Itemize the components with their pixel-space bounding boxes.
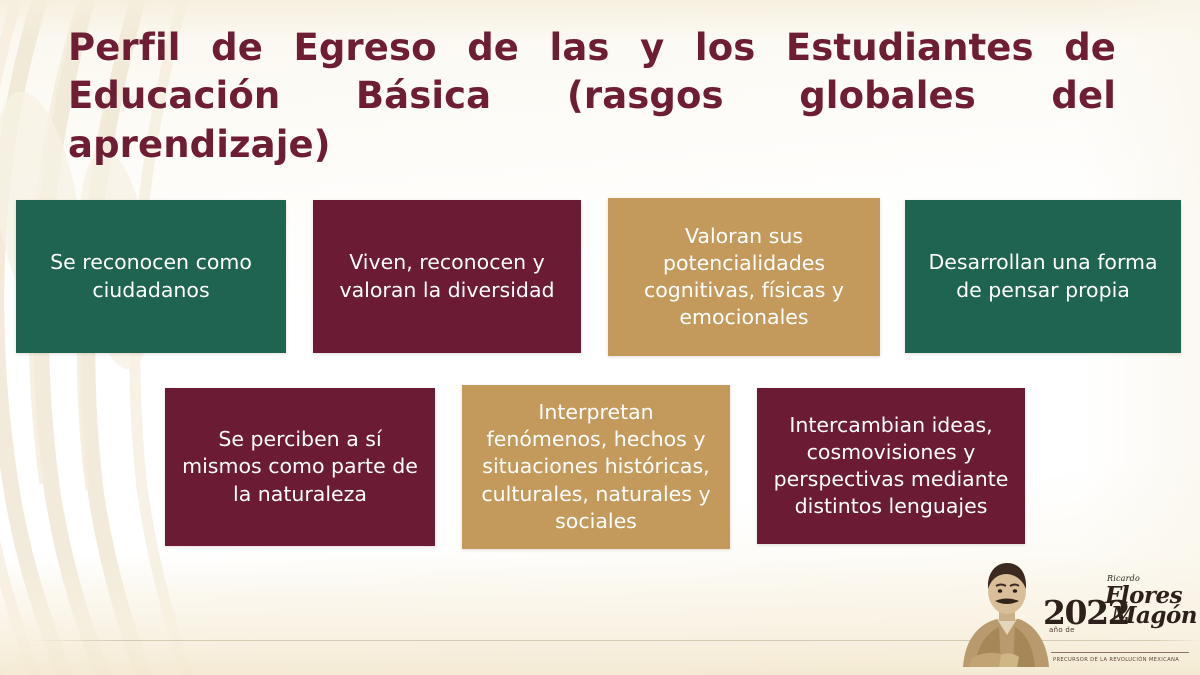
slide-canvas: Perfil de Egreso de las y los Estudiante…	[0, 0, 1200, 675]
page-title: Perfil de Egreso de las y los Estudiante…	[68, 24, 1116, 169]
profile-card-label: Desarrollan una forma de pensar propia	[919, 249, 1167, 303]
government-year-logo: 2022 año de Ricardo Flores Magón PRECURS…	[957, 555, 1192, 667]
profile-card-se-reconocen-como-ciudadanos: Se reconocen como ciudadanos	[16, 200, 286, 353]
profile-card-label: Se reconocen como ciudadanos	[30, 249, 272, 303]
logo-text-lockup: 2022 año de Ricardo Flores Magón PRECURS…	[1043, 569, 1193, 661]
portrait-ricardo-flores-magon-icon	[957, 559, 1053, 667]
logo-divider-rule	[1051, 652, 1189, 653]
profile-card-label: Se perciben a sí mismos como parte de la…	[179, 426, 421, 507]
logo-ano-de-label: año de	[1049, 626, 1075, 634]
profile-card-valoran-potencialidades: Valoran sus potencialidades cognitivas, …	[608, 198, 880, 356]
profile-card-intercambian-ideas: Intercambian ideas, cosmovisiones y pers…	[757, 388, 1025, 544]
profile-card-label: Intercambian ideas, cosmovisiones y pers…	[771, 412, 1011, 520]
page-title-line-1: Perfil de Egreso de las y los Estudiante…	[68, 24, 1116, 72]
page-title-line-2: Educación Básica (rasgos globales del	[68, 72, 1116, 120]
profile-card-label: Interpretan fenómenos, hechos y situacio…	[476, 399, 716, 534]
logo-last-name-2: Magón	[1111, 604, 1197, 627]
profile-card-forma-de-pensar-propia: Desarrollan una forma de pensar propia	[905, 200, 1181, 353]
profile-card-interpretan-fenomenos: Interpretan fenómenos, hechos y situacio…	[462, 385, 730, 549]
profile-card-parte-de-la-naturaleza: Se perciben a sí mismos como parte de la…	[165, 388, 435, 546]
logo-person-name: Ricardo Flores Magón	[1105, 575, 1197, 627]
logo-tagline: PRECURSOR DE LA REVOLUCIÓN MEXICANA	[1053, 657, 1179, 663]
profile-card-viven-reconocen-valoran-diversidad: Viven, reconocen y valoran la diversidad	[313, 200, 581, 353]
profile-card-label: Viven, reconocen y valoran la diversidad	[327, 249, 567, 303]
page-title-line-3: aprendizaje)	[68, 121, 1116, 169]
profile-card-label: Valoran sus potencialidades cognitivas, …	[622, 223, 866, 331]
